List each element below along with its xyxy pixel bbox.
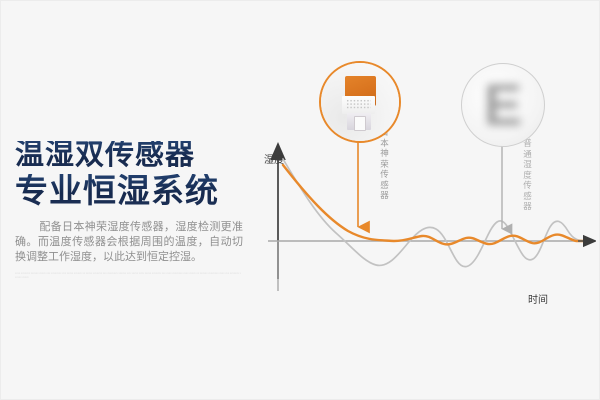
series-line-shinei	[283, 165, 586, 244]
blurred-glyph: E	[462, 64, 544, 146]
pcb-photo	[321, 63, 399, 141]
y-axis-label: 湿度	[264, 151, 284, 166]
chart-canvas	[256, 41, 596, 326]
humidity-chart: 湿度 时间 日本神荣传感器 普通湿度传感器 E	[256, 41, 596, 326]
callout-label-ordinary: 普通湿度传感器	[522, 138, 533, 212]
body-paragraph-text: 配备日本神荣湿度传感器，湿度检测更准确。而温度传感器会根据周围的温度，自动切换调…	[15, 221, 243, 263]
headline-secondary: 专业恒湿系统	[15, 174, 255, 208]
pcb-slot	[354, 116, 366, 131]
blurred-circle-icon: E	[461, 63, 545, 147]
sensor-photo-circle-icon	[319, 61, 401, 143]
copy-block: 温湿双传感器 专业恒湿系统 配备日本神荣湿度传感器，湿度检测更准确。而温度传感器…	[15, 141, 255, 279]
headline-primary: 温湿双传感器	[15, 141, 255, 171]
pcb-vent-dots	[346, 99, 371, 110]
body-paragraph: 配备日本神荣湿度传感器，湿度检测更准确。而温度传感器会根据周围的温度，自动切换调…	[15, 220, 243, 265]
series-line-ordinary	[283, 159, 586, 267]
promo-banner: 温湿双传感器 专业恒湿系统 配备日本神荣湿度传感器，湿度检测更准确。而温度传感器…	[0, 0, 600, 400]
fineprint-text: xxxx xxxxxxx xxxxxx xxxxx xxx xxxxxxxx x…	[15, 272, 241, 279]
x-axis-label: 时间	[528, 291, 548, 306]
